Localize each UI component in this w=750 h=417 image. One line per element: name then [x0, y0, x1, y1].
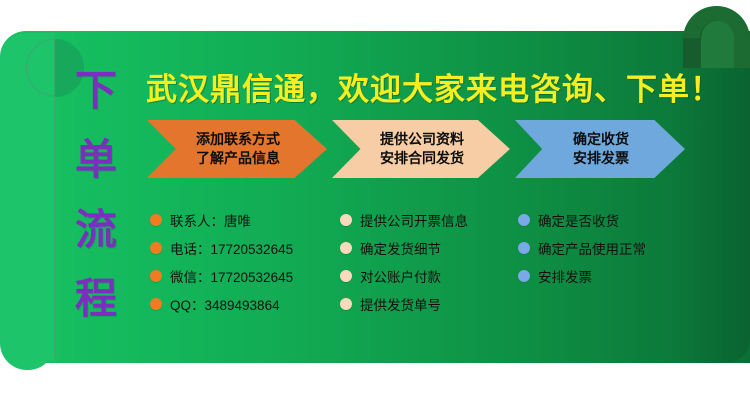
- list-item: 微信：17720532645: [150, 262, 335, 290]
- bullet-dot-icon: [150, 298, 162, 310]
- bullet-dot-icon: [340, 298, 352, 310]
- list-item-label: 安排发票: [538, 266, 592, 286]
- list-item-label: 提供发货单号: [360, 294, 441, 314]
- list-item: 确定产品使用正常: [518, 234, 718, 262]
- step-arrow-3: 确定收货 安排发票: [515, 120, 685, 178]
- banner-image: 下 单 流 程 武汉鼎信通，欢迎大家来电咨询、下单！ 添加联系方式 了解产品信息…: [0, 0, 750, 417]
- bullet-dot-icon: [340, 242, 352, 254]
- list-item-label: 微信：17720532645: [170, 266, 293, 286]
- vertical-title-char-2: 单: [75, 139, 117, 181]
- vertical-title: 下 单 流 程: [62, 70, 130, 320]
- step-arrow-1-line1: 添加联系方式: [196, 130, 280, 149]
- detail-column-3: 确定是否收货 确定产品使用正常 安排发票: [518, 206, 718, 290]
- scroll-roll-right-inner: [700, 21, 734, 68]
- step-arrow-2: 提供公司资料 安排合同发货: [332, 120, 510, 178]
- step-arrow-row: 添加联系方式 了解产品信息 提供公司资料 安排合同发货 确定收货 安排发票: [147, 120, 727, 180]
- scroll-strip-divider: [54, 36, 55, 358]
- scroll-tab-bottom-left: [0, 300, 55, 370]
- bullet-dot-icon: [150, 242, 162, 254]
- detail-column-1: 联系人：唐唯 电话：17720532645 微信：17720532645 QQ：…: [150, 206, 335, 318]
- list-item: QQ：3489493864: [150, 290, 335, 318]
- list-item: 电话：17720532645: [150, 234, 335, 262]
- list-item-label: 确定是否收货: [538, 210, 619, 230]
- bullet-dot-icon: [150, 270, 162, 282]
- list-item-label: 确定产品使用正常: [538, 238, 646, 258]
- scroll-roll-right-lip: [683, 38, 701, 68]
- step-arrow-1: 添加联系方式 了解产品信息: [147, 120, 327, 178]
- vertical-title-char-1: 下: [75, 70, 117, 112]
- list-item: 提供公司开票信息: [340, 206, 512, 234]
- vertical-title-char-4: 程: [75, 278, 117, 320]
- step-arrow-2-line1: 提供公司资料: [380, 130, 464, 149]
- bullet-dot-icon: [518, 270, 530, 282]
- list-item-label: 确定发货细节: [360, 238, 441, 258]
- step-arrow-3-line2: 安排发票: [573, 149, 629, 168]
- list-item-label: QQ：3489493864: [170, 294, 280, 314]
- list-item: 确定发货细节: [340, 234, 512, 262]
- vertical-title-char-3: 流: [75, 209, 117, 251]
- bullet-dot-icon: [518, 214, 530, 226]
- step-arrow-1-line2: 了解产品信息: [196, 149, 280, 168]
- list-item: 确定是否收货: [518, 206, 718, 234]
- list-item: 提供发货单号: [340, 290, 512, 318]
- headline: 武汉鼎信通，欢迎大家来电咨询、下单！: [146, 70, 726, 110]
- list-item: 联系人：唐唯: [150, 206, 335, 234]
- step-arrow-3-line1: 确定收货: [573, 130, 629, 149]
- step-arrow-2-line2: 安排合同发货: [380, 149, 464, 168]
- bullet-dot-icon: [150, 214, 162, 226]
- detail-columns: 联系人：唐唯 电话：17720532645 微信：17720532645 QQ：…: [150, 206, 730, 326]
- bullet-dot-icon: [340, 214, 352, 226]
- list-item-label: 提供公司开票信息: [360, 210, 468, 230]
- bullet-dot-icon: [518, 242, 530, 254]
- list-item-label: 对公账户付款: [360, 266, 441, 286]
- detail-column-2: 提供公司开票信息 确定发货细节 对公账户付款 提供发货单号: [340, 206, 512, 318]
- list-item: 安排发票: [518, 262, 718, 290]
- list-item-label: 电话：17720532645: [170, 238, 293, 258]
- bullet-dot-icon: [340, 270, 352, 282]
- list-item-label: 联系人：唐唯: [170, 210, 251, 230]
- list-item: 对公账户付款: [340, 262, 512, 290]
